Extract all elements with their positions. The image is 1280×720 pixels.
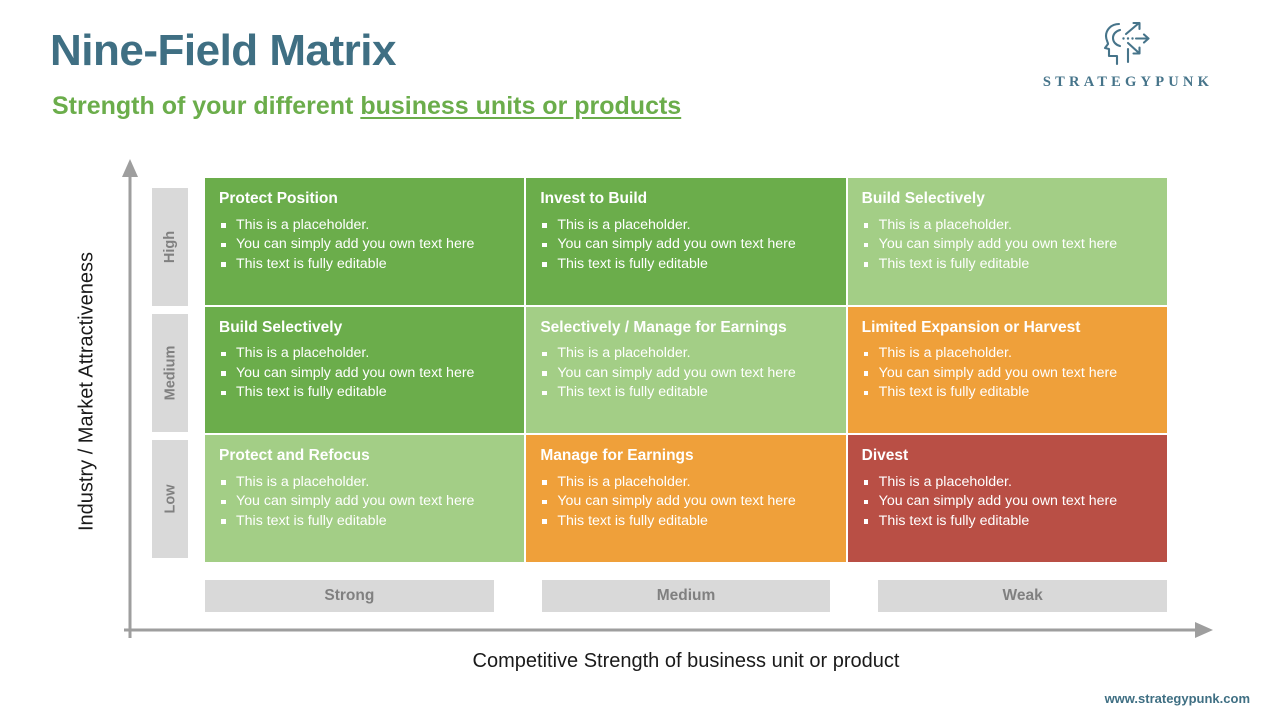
- matrix-cell-bullet-text: This text is fully editable: [236, 384, 387, 400]
- matrix-cell-bullet-text: You can simply add you own text here: [879, 493, 1117, 509]
- square-bullet-icon: [864, 223, 869, 228]
- head-with-arrows-icon: [1098, 18, 1158, 70]
- square-bullet-icon: [864, 519, 869, 524]
- matrix-cell-manage-for-earnings[interactable]: Manage for EarningsThis is a placeholder…: [526, 435, 845, 562]
- square-bullet-icon: [864, 480, 869, 485]
- matrix-cell-protect-position[interactable]: Protect PositionThis is a placeholder.Yo…: [205, 178, 524, 305]
- matrix-cell-bullet-text: This text is fully editable: [236, 513, 387, 529]
- page-subtitle-emphasis: business units or products: [360, 92, 681, 120]
- brand-logo: STRATEGYPUNK: [1018, 18, 1238, 91]
- matrix-cell-bullet-item: You can simply add you own text here: [540, 364, 831, 384]
- matrix-cell-bullet-text: You can simply add you own text here: [557, 365, 795, 381]
- square-bullet-icon: [542, 243, 547, 248]
- matrix-cell-bullet-item: This text is fully editable: [219, 255, 510, 275]
- matrix-cell-bullet-text: You can simply add you own text here: [557, 236, 795, 252]
- y-axis-title: Industry / Market Attractiveness: [76, 182, 99, 602]
- x-tick-medium-label: Medium: [657, 587, 716, 605]
- matrix-cell-title: Build Selectively: [219, 319, 510, 338]
- square-bullet-icon: [864, 371, 869, 376]
- matrix-cell-build-selectively-high[interactable]: Build SelectivelyThis is a placeholder.Y…: [848, 178, 1167, 305]
- matrix-cell-bullet-item: This is a placeholder.: [219, 344, 510, 364]
- matrix-cell-bullet-text: This text is fully editable: [236, 256, 387, 272]
- matrix-cell-bullet-text: This is a placeholder.: [557, 345, 690, 361]
- matrix-cell-divest[interactable]: DivestThis is a placeholder.You can simp…: [848, 435, 1167, 562]
- square-bullet-icon: [542, 223, 547, 228]
- square-bullet-icon: [221, 480, 226, 485]
- square-bullet-icon: [864, 500, 869, 505]
- square-bullet-icon: [221, 352, 226, 357]
- square-bullet-icon: [864, 262, 869, 267]
- y-tick-low-label: Low: [162, 485, 178, 514]
- x-axis-arrow-icon: [124, 620, 1214, 640]
- matrix-cell-bullet-item: You can simply add you own text here: [862, 492, 1153, 512]
- page-subtitle-prefix: Strength of your different: [52, 92, 360, 120]
- page-subtitle: Strength of your different business unit…: [52, 92, 681, 121]
- matrix-cell-bullet-item: This text is fully editable: [862, 512, 1153, 532]
- matrix-cell-bullet-text: This text is fully editable: [879, 256, 1030, 272]
- matrix-cell-bullet-list: This is a placeholder.You can simply add…: [540, 344, 831, 403]
- matrix-cell-bullet-text: This text is fully editable: [557, 384, 708, 400]
- matrix-cell-bullet-list: This is a placeholder.You can simply add…: [862, 344, 1153, 403]
- matrix-cell-bullet-item: This is a placeholder.: [219, 473, 510, 493]
- matrix-cell-bullet-item: This is a placeholder.: [540, 344, 831, 364]
- matrix-cell-bullet-text: You can simply add you own text here: [557, 493, 795, 509]
- matrix-cell-bullet-item: You can simply add you own text here: [862, 364, 1153, 384]
- matrix-cell-bullet-text: This is a placeholder.: [236, 217, 369, 233]
- square-bullet-icon: [221, 500, 226, 505]
- footer-website-url: www.strategypunk.com: [1105, 691, 1250, 706]
- x-tick-medium: Medium: [542, 580, 831, 612]
- square-bullet-icon: [542, 519, 547, 524]
- matrix-cell-bullet-text: This text is fully editable: [879, 384, 1030, 400]
- y-tick-medium: Medium: [152, 314, 188, 432]
- matrix-cell-bullet-item: You can simply add you own text here: [862, 235, 1153, 255]
- matrix-cell-bullet-text: This text is fully editable: [879, 513, 1030, 529]
- nine-field-matrix: Protect PositionThis is a placeholder.Yo…: [205, 178, 1167, 562]
- square-bullet-icon: [864, 243, 869, 248]
- matrix-cell-bullet-item: This text is fully editable: [862, 255, 1153, 275]
- logo-wordmark: STRATEGYPUNK: [1018, 74, 1238, 91]
- x-tick-weak: Weak: [878, 580, 1167, 612]
- matrix-cell-bullet-text: You can simply add you own text here: [879, 365, 1117, 381]
- matrix-cell-bullet-text: This is a placeholder.: [557, 217, 690, 233]
- matrix-cell-bullet-item: This is a placeholder.: [540, 473, 831, 493]
- square-bullet-icon: [221, 223, 226, 228]
- matrix-cell-bullet-list: This is a placeholder.You can simply add…: [540, 216, 831, 275]
- matrix-cell-bullet-item: This text is fully editable: [540, 255, 831, 275]
- square-bullet-icon: [542, 262, 547, 267]
- matrix-cell-bullet-text: You can simply add you own text here: [236, 493, 474, 509]
- matrix-cell-title: Build Selectively: [862, 190, 1153, 209]
- matrix-cell-bullet-item: This text is fully editable: [862, 383, 1153, 403]
- matrix-cell-invest-to-build[interactable]: Invest to BuildThis is a placeholder.You…: [526, 178, 845, 305]
- matrix-cell-bullet-item: This text is fully editable: [540, 512, 831, 532]
- matrix-cell-title: Manage for Earnings: [540, 447, 831, 466]
- matrix-cell-title: Divest: [862, 447, 1153, 466]
- y-tick-high-label: High: [162, 231, 178, 263]
- matrix-cell-bullet-list: This is a placeholder.You can simply add…: [219, 344, 510, 403]
- matrix-cell-title: Selectively / Manage for Earnings: [540, 319, 831, 338]
- square-bullet-icon: [864, 352, 869, 357]
- square-bullet-icon: [864, 391, 869, 396]
- matrix-cell-bullet-item: You can simply add you own text here: [540, 235, 831, 255]
- matrix-cell-bullet-item: This text is fully editable: [540, 383, 831, 403]
- matrix-cell-bullet-text: You can simply add you own text here: [236, 365, 474, 381]
- matrix-cell-limited-expansion[interactable]: Limited Expansion or HarvestThis is a pl…: [848, 307, 1167, 434]
- page-title: Nine-Field Matrix: [50, 28, 396, 74]
- square-bullet-icon: [221, 371, 226, 376]
- x-tick-strong: Strong: [205, 580, 494, 612]
- matrix-cell-bullet-text: This text is fully editable: [557, 513, 708, 529]
- y-tick-high: High: [152, 188, 188, 306]
- matrix-cell-bullet-text: This is a placeholder.: [236, 345, 369, 361]
- matrix-cell-bullet-list: This is a placeholder.You can simply add…: [862, 473, 1153, 532]
- square-bullet-icon: [542, 371, 547, 376]
- matrix-cell-bullet-item: You can simply add you own text here: [219, 364, 510, 384]
- matrix-cell-bullet-item: This is a placeholder.: [862, 473, 1153, 493]
- matrix-cell-bullet-text: This is a placeholder.: [879, 474, 1012, 490]
- matrix-cell-selectively-manage[interactable]: Selectively / Manage for EarningsThis is…: [526, 307, 845, 434]
- x-axis-title: Competitive Strength of business unit or…: [205, 650, 1167, 673]
- matrix-cell-title: Protect Position: [219, 190, 510, 209]
- x-tick-strong-label: Strong: [324, 587, 374, 605]
- x-tick-weak-label: Weak: [1003, 587, 1043, 605]
- matrix-cell-protect-and-refocus[interactable]: Protect and RefocusThis is a placeholder…: [205, 435, 524, 562]
- matrix-cell-bullet-text: You can simply add you own text here: [236, 236, 474, 252]
- matrix-cell-bullet-text: This is a placeholder.: [879, 217, 1012, 233]
- square-bullet-icon: [221, 243, 226, 248]
- matrix-cell-bullet-item: This is a placeholder.: [862, 344, 1153, 364]
- matrix-cell-title: Protect and Refocus: [219, 447, 510, 466]
- matrix-cell-bullet-text: This is a placeholder.: [236, 474, 369, 490]
- matrix-cell-bullet-list: This is a placeholder.You can simply add…: [219, 473, 510, 532]
- matrix-cell-bullet-item: This is a placeholder.: [540, 216, 831, 236]
- square-bullet-icon: [542, 391, 547, 396]
- matrix-cell-bullet-text: This is a placeholder.: [879, 345, 1012, 361]
- x-tick-group: Strong Medium Weak: [205, 580, 1167, 612]
- square-bullet-icon: [221, 262, 226, 267]
- matrix-cell-bullet-item: You can simply add you own text here: [219, 235, 510, 255]
- matrix-cell-bullet-item: You can simply add you own text here: [219, 492, 510, 512]
- y-tick-medium-label: Medium: [162, 346, 178, 401]
- matrix-cell-bullet-item: This text is fully editable: [219, 383, 510, 403]
- matrix-cell-bullet-item: This text is fully editable: [219, 512, 510, 532]
- matrix-cell-bullet-item: You can simply add you own text here: [540, 492, 831, 512]
- matrix-cell-title: Invest to Build: [540, 190, 831, 209]
- square-bullet-icon: [542, 352, 547, 357]
- square-bullet-icon: [221, 391, 226, 396]
- y-tick-low: Low: [152, 440, 188, 558]
- square-bullet-icon: [542, 480, 547, 485]
- matrix-cell-bullet-item: This is a placeholder.: [219, 216, 510, 236]
- matrix-cell-bullet-list: This is a placeholder.You can simply add…: [540, 473, 831, 532]
- matrix-cell-bullet-text: You can simply add you own text here: [879, 236, 1117, 252]
- page-title-text: Nine-Field Matrix: [50, 26, 396, 75]
- matrix-cell-build-selectively-med[interactable]: Build SelectivelyThis is a placeholder.Y…: [205, 307, 524, 434]
- square-bullet-icon: [221, 519, 226, 524]
- matrix-cell-bullet-list: This is a placeholder.You can simply add…: [219, 216, 510, 275]
- matrix-cell-bullet-text: This text is fully editable: [557, 256, 708, 272]
- square-bullet-icon: [542, 500, 547, 505]
- y-axis-arrow-icon: [120, 158, 140, 638]
- matrix-cell-bullet-text: This is a placeholder.: [557, 474, 690, 490]
- matrix-cell-bullet-item: This is a placeholder.: [862, 216, 1153, 236]
- matrix-cell-bullet-list: This is a placeholder.You can simply add…: [862, 216, 1153, 275]
- matrix-cell-title: Limited Expansion or Harvest: [862, 319, 1153, 338]
